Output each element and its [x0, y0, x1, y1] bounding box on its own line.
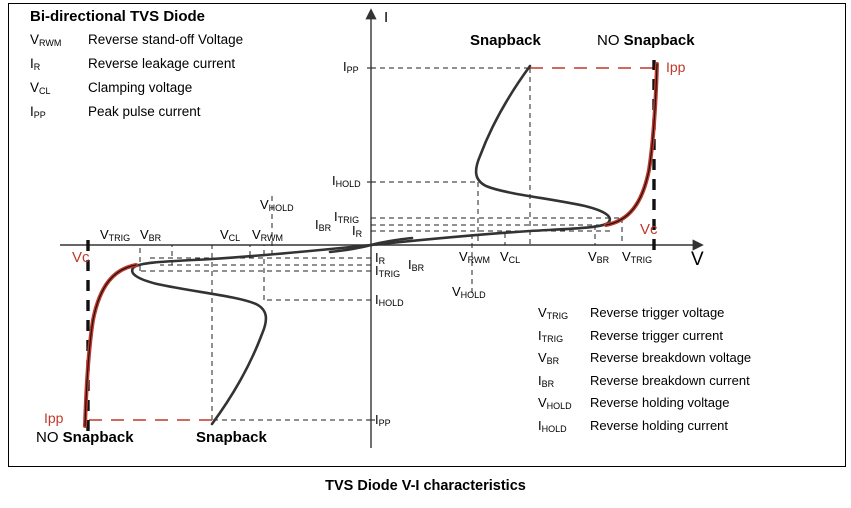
no-snapback-label-bottom: NO Snapback: [36, 430, 134, 445]
tick-vcl-negative: VCL: [220, 228, 240, 243]
current-axis-label: I: [384, 10, 388, 25]
tick-ibr-negative: IBR: [408, 258, 424, 273]
tick-vrwm-positive: VRWM: [459, 250, 490, 265]
clamping-curve-positive: [606, 64, 657, 225]
ipp-label-bottom: Ipp: [44, 411, 63, 425]
figure-caption: TVS Diode V-I characteristics: [0, 478, 851, 494]
ipp-label-top: Ipp: [666, 60, 685, 74]
tick-vbr-negative: VBR: [140, 228, 161, 243]
clamping-curve-positive-outline: [606, 64, 657, 225]
clamping-curve-negative: [85, 265, 136, 426]
no-snapback-label-top: NO Snapback: [597, 33, 695, 48]
tick-vcl-positive: VCL: [500, 250, 520, 265]
vc-label-left: Vc: [72, 250, 90, 265]
tick-ibr-positive: IBR: [315, 218, 331, 233]
voltage-axis-label: V: [691, 250, 704, 269]
snapback-label-bottom: Snapback: [196, 430, 267, 445]
tick-vtrig-negative: VTRIG: [100, 228, 130, 243]
snapback-label-top: Snapback: [470, 33, 541, 48]
tick-ir-positive: IR: [352, 224, 362, 239]
tick-vrwm-negative: VRWM: [252, 228, 283, 243]
clamping-curve-negative-outline: [85, 265, 136, 426]
tick-ihold-positive: IHOLD: [332, 174, 361, 189]
snapback-curve-negative: [132, 245, 371, 424]
tvs-diode-figure: Bi-directional TVS Diode VRWM Reverse st…: [0, 0, 851, 508]
tick-ihold-negative: IHOLD: [375, 293, 404, 308]
tick-ipp-positive: IPP: [343, 60, 359, 75]
tick-vhold-positive: VHOLD: [452, 285, 486, 300]
tick-vtrig-positive: VTRIG: [622, 250, 652, 265]
tick-vhold-negative: VHOLD: [260, 198, 294, 213]
tick-itrig-negative: ITRIG: [375, 264, 400, 279]
vc-label-right: Vc: [640, 222, 658, 237]
tick-ipp-negative: IPP: [375, 413, 391, 428]
tick-vbr-positive: VBR: [588, 250, 609, 265]
